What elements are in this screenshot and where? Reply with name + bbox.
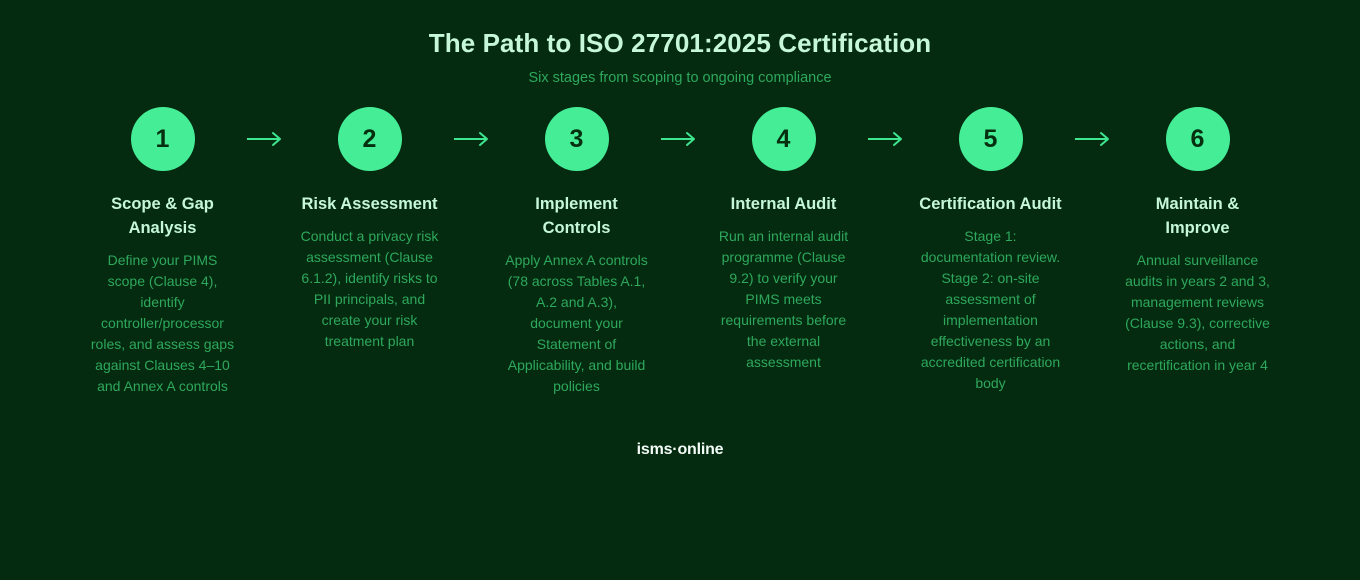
step-1: 1 Scope & Gap Analysis Define your PIMS … — [90, 107, 236, 397]
arrow-right-icon-3 — [650, 107, 711, 171]
step-number-badge-6: 6 — [1166, 107, 1230, 171]
arrow-right-icon-4 — [857, 107, 918, 171]
step-title-6: Maintain & Improve — [1125, 193, 1271, 241]
arrow-right-icon-5 — [1064, 107, 1125, 171]
step-description-6: Annual surveillance audits in years 2 an… — [1125, 250, 1271, 376]
step-title-5: Certification Audit — [919, 193, 1061, 217]
step-description-4: Run an internal audit programme (Clause … — [711, 226, 857, 373]
step-number-badge-2: 2 — [338, 107, 402, 171]
steps-row: 1 Scope & Gap Analysis Define your PIMS … — [0, 107, 1360, 397]
step-description-5: Stage 1: documentation review. Stage 2: … — [918, 226, 1064, 394]
iso-27701-certification-path-infographic: The Path to ISO 27701:2025 Certification… — [0, 0, 1360, 580]
step-number-badge-1: 1 — [131, 107, 195, 171]
step-title-3: Implement Controls — [504, 193, 650, 241]
step-number-badge-4: 4 — [752, 107, 816, 171]
step-description-2: Conduct a privacy risk assessment (Claus… — [297, 226, 443, 352]
page-subtitle: Six stages from scoping to ongoing compl… — [0, 69, 1360, 88]
step-description-3: Apply Annex A controls (78 across Tables… — [504, 250, 650, 397]
step-title-4: Internal Audit — [731, 193, 837, 217]
step-title-1: Scope & Gap Analysis — [90, 193, 236, 241]
brand-logo: isms·online — [0, 441, 1360, 459]
header: The Path to ISO 27701:2025 Certification… — [0, 0, 1360, 88]
page-title: The Path to ISO 27701:2025 Certification — [0, 28, 1360, 59]
step-2: 2 Risk Assessment Conduct a privacy risk… — [297, 107, 443, 352]
step-description-1: Define your PIMS scope (Clause 4), ident… — [90, 250, 236, 397]
step-number-badge-5: 5 — [959, 107, 1023, 171]
step-5: 5 Certification Audit Stage 1: documenta… — [918, 107, 1064, 394]
step-number-badge-3: 3 — [545, 107, 609, 171]
arrow-right-icon-1 — [236, 107, 297, 171]
step-title-2: Risk Assessment — [301, 193, 437, 217]
step-4: 4 Internal Audit Run an internal audit p… — [711, 107, 857, 373]
footer: isms·online — [0, 441, 1360, 459]
step-3: 3 Implement Controls Apply Annex A contr… — [504, 107, 650, 397]
step-6: 6 Maintain & Improve Annual surveillance… — [1125, 107, 1271, 376]
arrow-right-icon-2 — [443, 107, 504, 171]
